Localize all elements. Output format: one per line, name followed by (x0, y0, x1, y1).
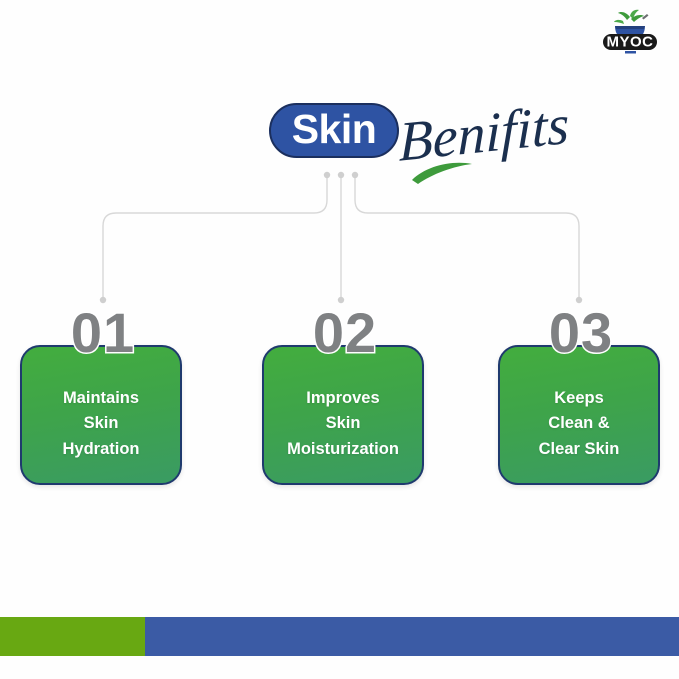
footer-bar-blue-segment (145, 617, 679, 656)
benefit-text-1: Maintains Skin Hydration (56, 386, 145, 463)
benefit-text-1-line-2: Skin (62, 411, 139, 437)
benefit-card-3[interactable]: 03 Keeps Clean & Clear Skin (498, 345, 660, 485)
benefit-text-2-line-2: Skin (287, 411, 399, 437)
benefit-number-1: 01 (22, 305, 184, 361)
benefit-text-1-line-1: Maintains (62, 386, 139, 412)
benefit-text-2: Improves Skin Moisturization (281, 386, 405, 463)
benefit-text-3-line-1: Keeps (539, 386, 620, 412)
page-title: Skin Benifits (0, 95, 679, 195)
logo-wordmark: MYOC (607, 34, 654, 51)
brand-logo: MYOC (597, 8, 663, 54)
benefit-text-2-line-1: Improves (287, 386, 399, 412)
benefit-number-3: 03 (500, 305, 662, 361)
benefit-text-3-line-3: Clear Skin (539, 437, 620, 463)
benefit-text-3: Keeps Clean & Clear Skin (533, 386, 626, 463)
benefit-text-2-line-3: Moisturization (287, 437, 399, 463)
benefit-number-2: 02 (264, 305, 426, 361)
title-highlight-badge: Skin (269, 103, 399, 158)
benefit-card-2[interactable]: 02 Improves Skin Moisturization (262, 345, 424, 485)
footer-bar-green-segment (0, 617, 145, 656)
infographic-canvas: MYOC Skin Benifits 01 (0, 0, 679, 679)
title-script-word: Benifits (404, 92, 604, 192)
footer-bar (0, 617, 679, 656)
benefit-text-1-line-3: Hydration (62, 437, 139, 463)
bowl-with-leaves-icon: MYOC (597, 8, 663, 54)
title-highlight-text: Skin (292, 109, 377, 150)
benefit-text-3-line-2: Clean & (539, 411, 620, 437)
title-script-text: Benifits (399, 94, 569, 174)
benefit-card-1[interactable]: 01 Maintains Skin Hydration (20, 345, 182, 485)
